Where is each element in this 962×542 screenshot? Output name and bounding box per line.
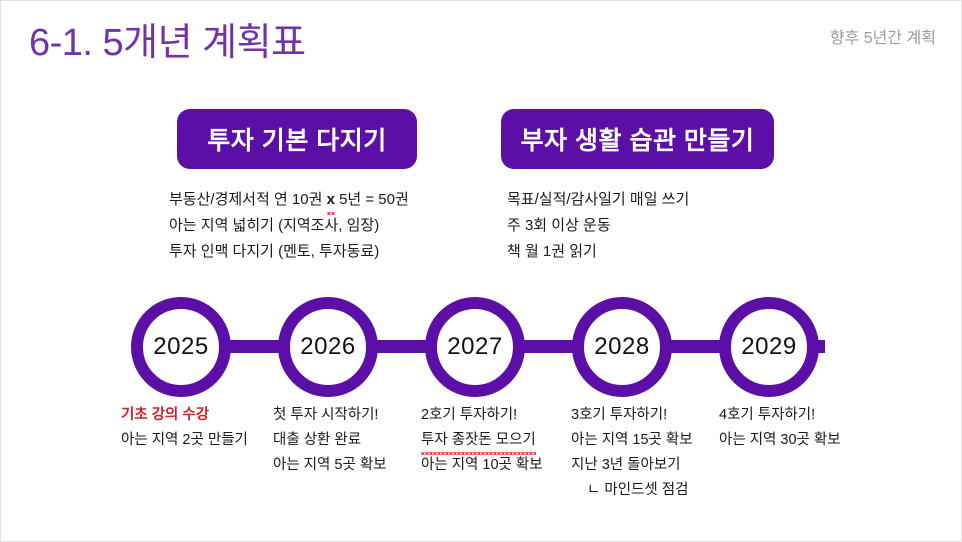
slide-canvas: 6-1. 5개년 계획표 향후 5년간 계획 투자 기본 다지기 부자 생활 습… [0, 0, 962, 542]
timeline-node-2027[interactable]: 2027 [425, 297, 525, 397]
line-text: 책 월 1권 읽기 [507, 243, 597, 260]
timeline-node-year: 2025 [153, 333, 208, 361]
year-detail-line: 3호기 투자하기! [571, 403, 693, 428]
section-heading-pill-0: 투자 기본 다지기 [177, 109, 417, 169]
year-detail-line: 대출 상환 완료 [273, 428, 387, 453]
page-title: 6-1. 5개년 계획표 [29, 11, 306, 66]
section-line: 부동산/경제서적 연 10권 x 5년 = 50권 [169, 187, 409, 213]
spellcheck-marked-text: 투자 종잣돈 모으기 [421, 428, 536, 453]
year-detail-column-2027: 2호기 투자하기!투자 종잣돈 모으기아는 지역 10곳 확보 [421, 403, 543, 478]
section-line: 목표/실적/감사일기 매일 쓰기 [507, 187, 689, 213]
timeline-node-year: 2026 [300, 333, 355, 361]
year-detail-line: 4호기 투자하기! [719, 403, 841, 428]
line-text: 목표/실적/감사일기 매일 쓰기 [507, 191, 689, 208]
line-text: 부동산/경제서적 연 10권 [169, 191, 327, 208]
timeline-node-2026[interactable]: 2026 [278, 297, 378, 397]
year-detail-line: 첫 투자 시작하기! [273, 403, 387, 428]
year-detail-line: 아는 지역 15곳 확보 [571, 428, 693, 453]
year-detail-line: 아는 지역 5곳 확보 [273, 453, 387, 478]
year-detail-line: 투자 종잣돈 모으기 [421, 428, 543, 453]
section-line: 책 월 1권 읽기 [507, 239, 689, 265]
timeline-node-2029[interactable]: 2029 [719, 297, 819, 397]
timeline-node-year: 2027 [447, 333, 502, 361]
year-detail-column-2028: 3호기 투자하기!아는 지역 15곳 확보지난 3년 돌아보기ㄴ 마인드셋 점검 [571, 403, 693, 503]
line-text: 주 3회 이상 운동 [507, 217, 611, 234]
timeline-node-2025[interactable]: 2025 [131, 297, 231, 397]
header-note: 향후 5년간 계획 [830, 24, 936, 48]
section-line: 주 3회 이상 운동 [507, 213, 689, 239]
year-detail-line: 아는 지역 10곳 확보 [421, 453, 543, 478]
year-detail-line: ㄴ 마인드셋 점검 [571, 478, 693, 503]
line-text: 5년 = 50권 [335, 191, 409, 208]
year-detail-column-2026: 첫 투자 시작하기!대출 상환 완료아는 지역 5곳 확보 [273, 403, 387, 478]
section-line: 투자 인맥 다지기 (멘토, 투자동료) [169, 239, 409, 265]
spellcheck-marked-text: x [327, 187, 335, 213]
year-detail-column-2025: 기초 강의 수강아는 지역 2곳 만들기 [121, 403, 248, 453]
year-detail-line: 기초 강의 수강 [121, 403, 248, 428]
section-line: 아는 지역 넓히기 (지역조사, 임장) [169, 213, 409, 239]
timeline-node-year: 2028 [594, 333, 649, 361]
year-detail-line: 2호기 투자하기! [421, 403, 543, 428]
year-detail-line: 아는 지역 2곳 만들기 [121, 428, 248, 453]
section-heading-pill-1: 부자 생활 습관 만들기 [501, 109, 774, 169]
line-text: 투자 인맥 다지기 (멘토, 투자동료) [169, 243, 379, 260]
timeline-node-2028[interactable]: 2028 [572, 297, 672, 397]
section-bullet-list-0: 부동산/경제서적 연 10권 x 5년 = 50권아는 지역 넓히기 (지역조사… [169, 187, 409, 265]
timeline-node-year: 2029 [741, 333, 796, 361]
line-text: 아는 지역 넓히기 (지역조사, 임장) [169, 217, 379, 234]
year-detail-line: 지난 3년 돌아보기 [571, 453, 693, 478]
year-detail-line: 아는 지역 30곳 확보 [719, 428, 841, 453]
section-bullet-list-1: 목표/실적/감사일기 매일 쓰기주 3회 이상 운동책 월 1권 읽기 [507, 187, 689, 265]
year-detail-column-2029: 4호기 투자하기!아는 지역 30곳 확보 [719, 403, 841, 453]
